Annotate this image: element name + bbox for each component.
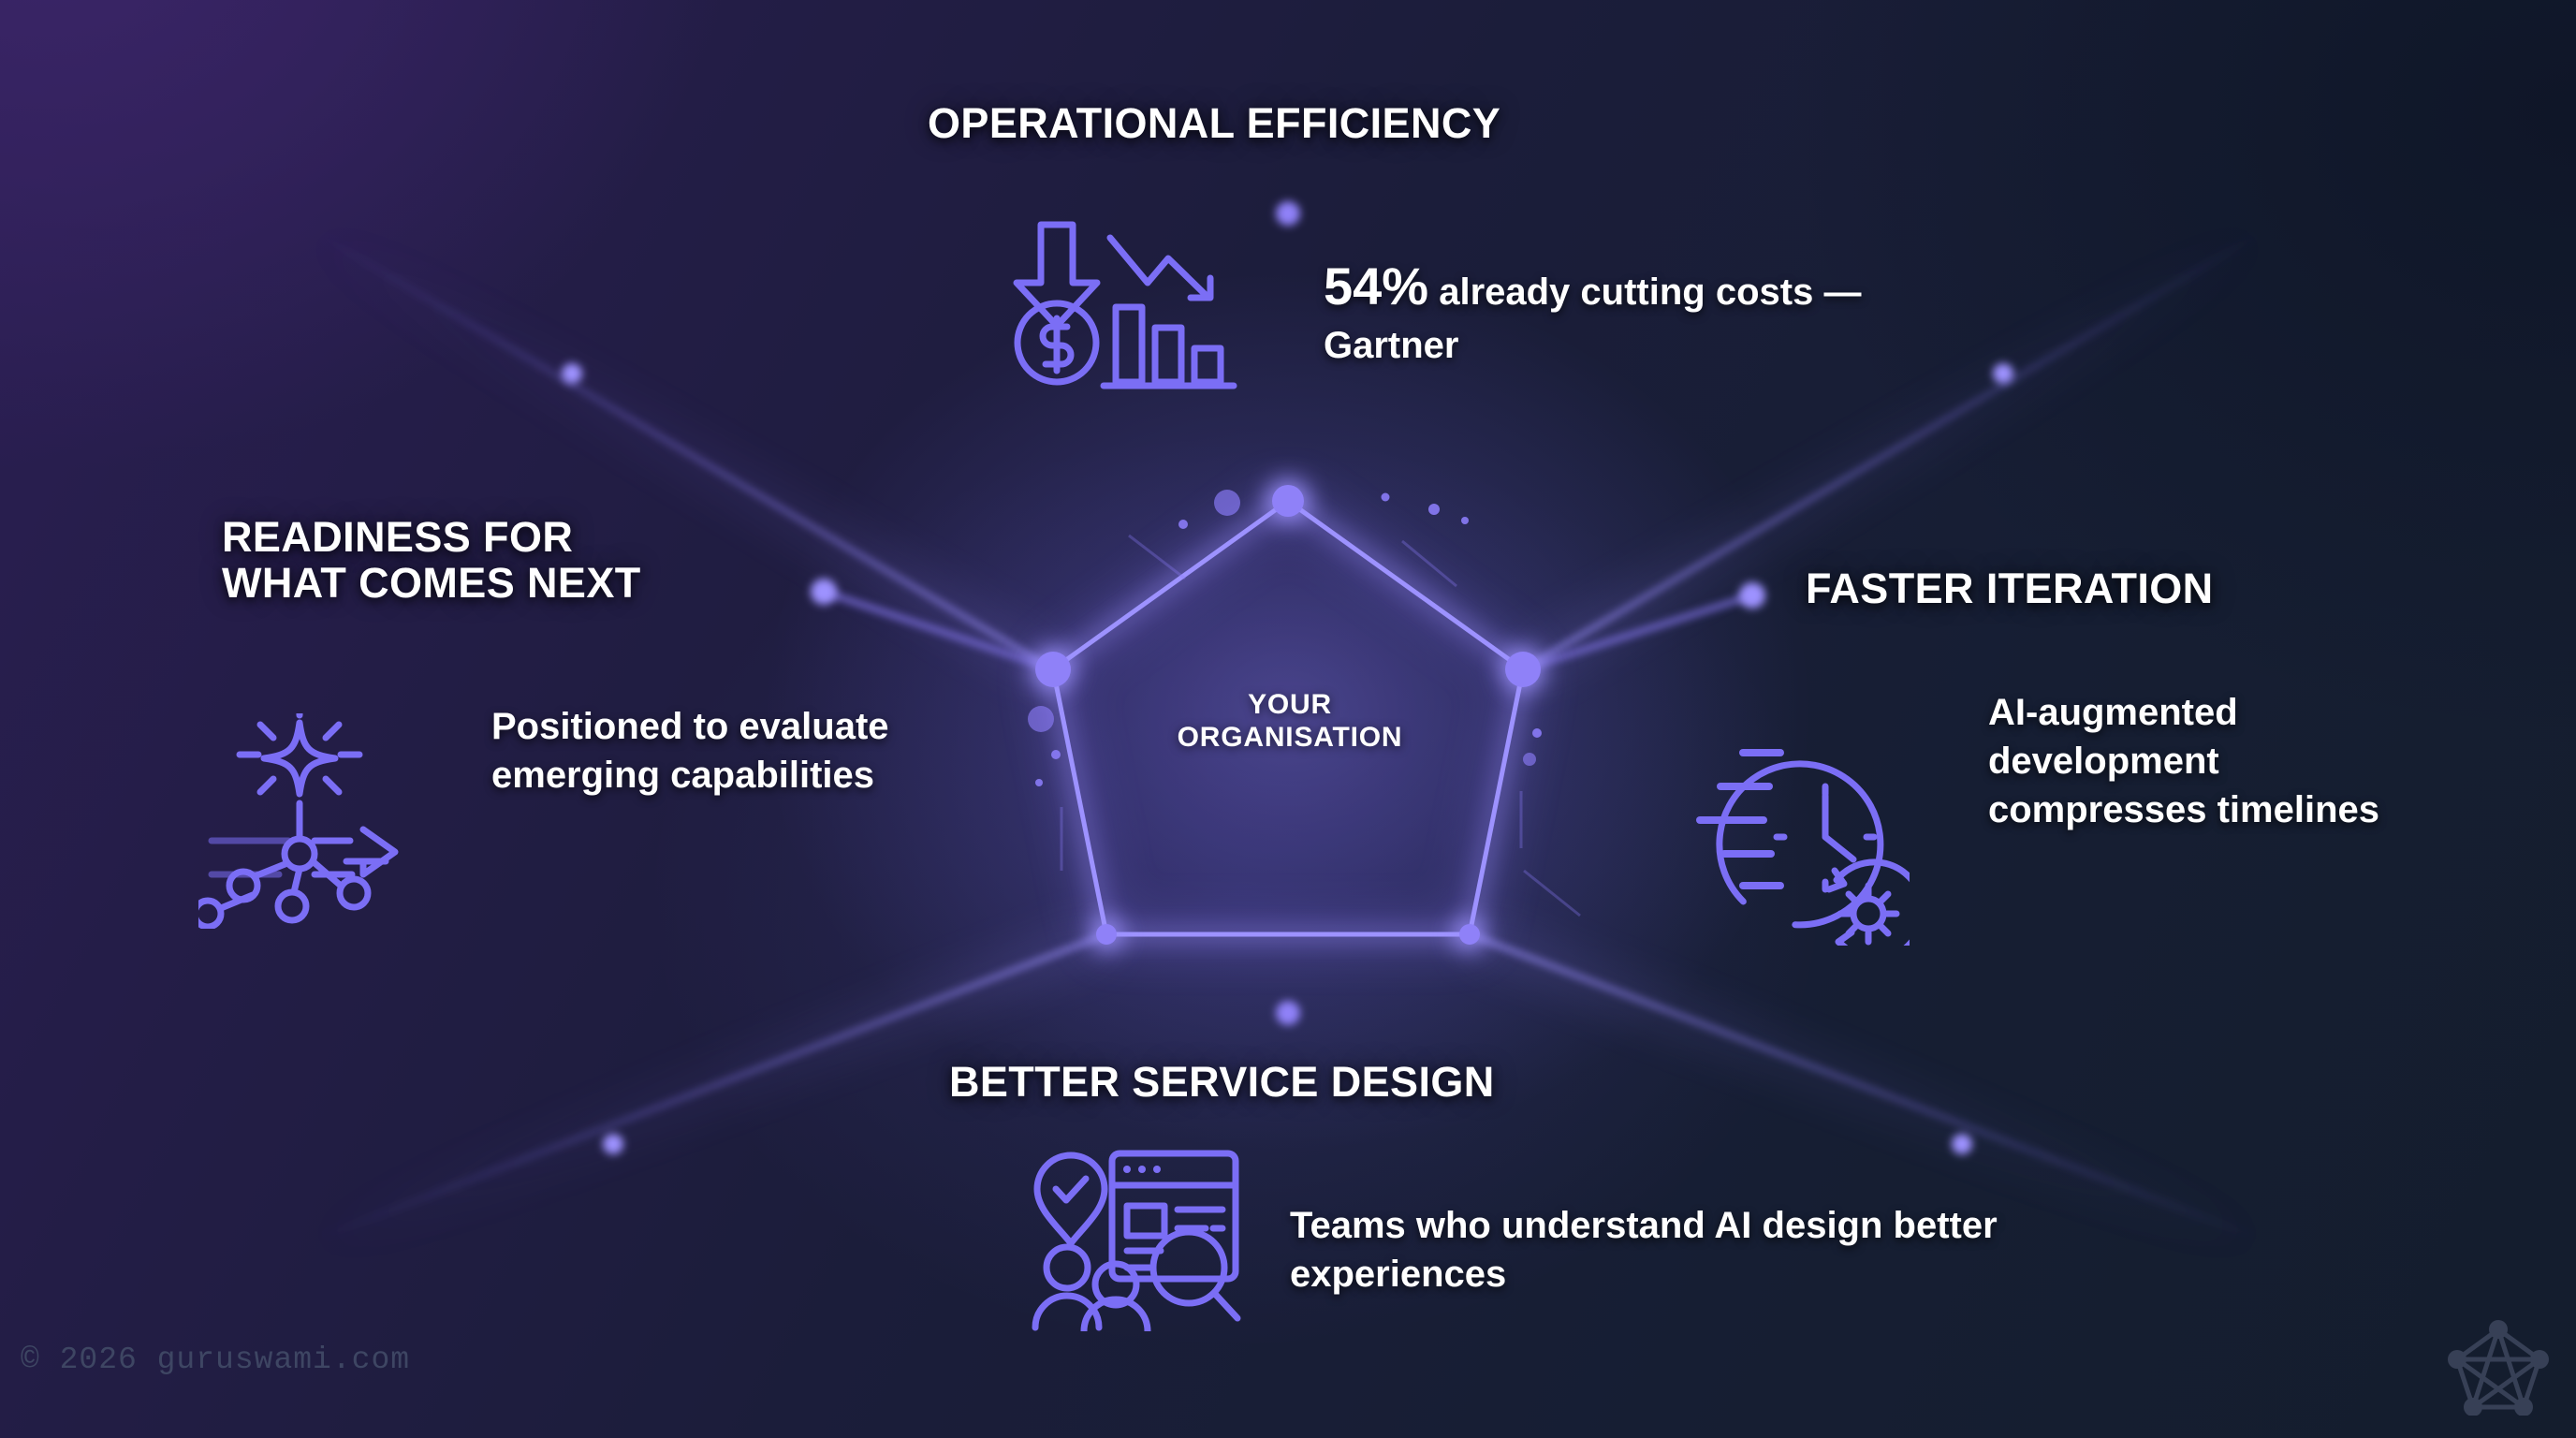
- emerging-capabilities-icon: [198, 713, 423, 929]
- copyright-notice: © 2026 guruswami.com: [21, 1343, 410, 1377]
- pillar-body-operational-efficiency: 54% already cutting costs — Gartner: [1324, 253, 1941, 370]
- pentagon-vertex-node: [1035, 652, 1071, 687]
- pillar-body-readiness: Positioned to evaluate emerging capabili…: [491, 702, 1053, 800]
- ray-node-left: [811, 579, 837, 605]
- ray-node-top-right: [1993, 363, 2013, 384]
- center-label-line2: ORGANISATION: [1103, 721, 1477, 754]
- pillar-title-operational-efficiency: OPERATIONAL EFFICIENCY: [928, 101, 1500, 147]
- pillar-title-faster-iteration: FASTER ITERATION: [1806, 566, 2214, 612]
- center-label-line1: YOUR: [1103, 688, 1477, 721]
- pentagon-vertex-node: [1459, 924, 1480, 945]
- ray-node-top-left: [562, 363, 582, 384]
- pillar-title-better-service-design: BETTER SERVICE DESIGN: [949, 1060, 1495, 1106]
- ray-node-right: [1739, 582, 1765, 609]
- infographic-canvas: OPERATIONAL EFFICIENCY 54% already cutti…: [0, 0, 2576, 1438]
- center-label: YOUR ORGANISATION: [1103, 688, 1477, 755]
- clock-gear-speed-icon: [1685, 740, 1910, 946]
- pentagram-network-logo: [2447, 1318, 2550, 1416]
- service-design-icon: [1022, 1144, 1247, 1331]
- pentagon-vertex-node: [1272, 485, 1304, 517]
- pillar-body-better-service-design: Teams who understand AI design better ex…: [1290, 1201, 2039, 1299]
- pillar-title-readiness-line2: WHAT COMES NEXT: [222, 561, 641, 607]
- pentagon-vertex-node: [1096, 924, 1117, 945]
- pentagon-vertex-node: [1505, 652, 1541, 687]
- pillar-title-readiness-line1: READINESS FOR: [222, 515, 641, 561]
- ray-node-bottom-right: [1952, 1134, 1972, 1154]
- stat-value: 54%: [1324, 257, 1428, 315]
- ray-node-bottom-left: [603, 1134, 623, 1154]
- stem-node-top: [1276, 201, 1300, 226]
- pillar-title-readiness: READINESS FOR WHAT COMES NEXT: [222, 515, 641, 606]
- stem-node-bottom: [1276, 1001, 1300, 1025]
- pillar-body-faster-iteration: AI-augmented development compresses time…: [1988, 688, 2437, 834]
- cost-reduction-icon: [1007, 215, 1241, 393]
